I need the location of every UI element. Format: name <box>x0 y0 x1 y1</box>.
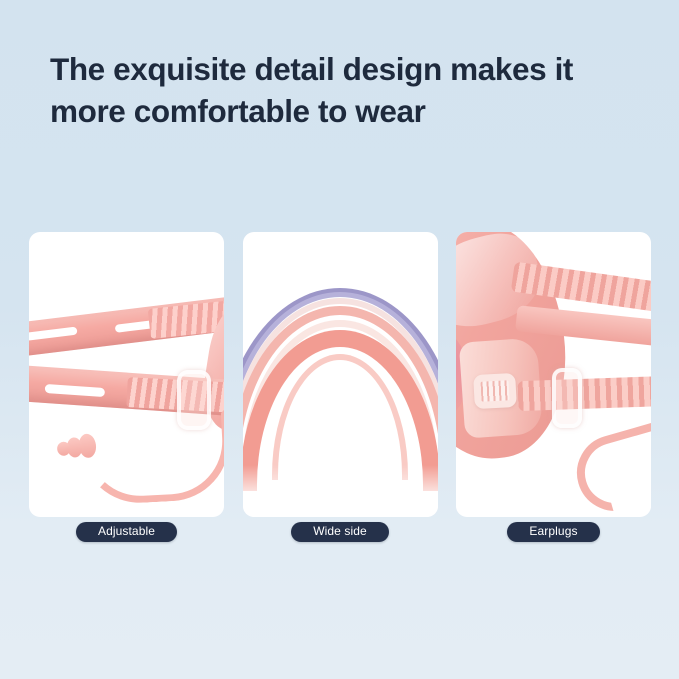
product-photo-earplugs <box>456 232 651 517</box>
caption-badge-adjustable: Adjustable <box>76 522 177 543</box>
photo-fade <box>243 465 438 517</box>
caption-slot-wide-side: Wide side <box>243 521 438 543</box>
product-image-panel-earplugs[interactable] <box>456 232 651 517</box>
strap-connector <box>473 373 517 409</box>
product-infographic: The exquisite detail design makes it mor… <box>0 0 679 679</box>
connector-ribbing <box>480 380 509 401</box>
product-image-panel-adjustable[interactable] <box>29 232 224 517</box>
strap-slot <box>29 327 78 341</box>
strap-buckle <box>552 368 582 428</box>
earplug-cord <box>79 406 224 506</box>
product-photo-adjustable <box>29 232 224 517</box>
product-image-panel-wide-side[interactable] <box>243 232 438 517</box>
panel-row <box>29 232 651 517</box>
caption-slot-earplugs: Earplugs <box>456 521 651 543</box>
strap-slot <box>45 384 105 397</box>
product-photo-wide-side <box>243 232 438 517</box>
caption-badge-earplugs: Earplugs <box>507 522 599 543</box>
caption-slot-adjustable: Adjustable <box>29 521 224 543</box>
caption-badge-wide-side: Wide side <box>291 522 389 543</box>
headline: The exquisite detail design makes it mor… <box>50 49 650 132</box>
caption-row: Adjustable Wide side Earplugs <box>29 521 651 543</box>
goggle-strap-lower <box>518 375 651 411</box>
